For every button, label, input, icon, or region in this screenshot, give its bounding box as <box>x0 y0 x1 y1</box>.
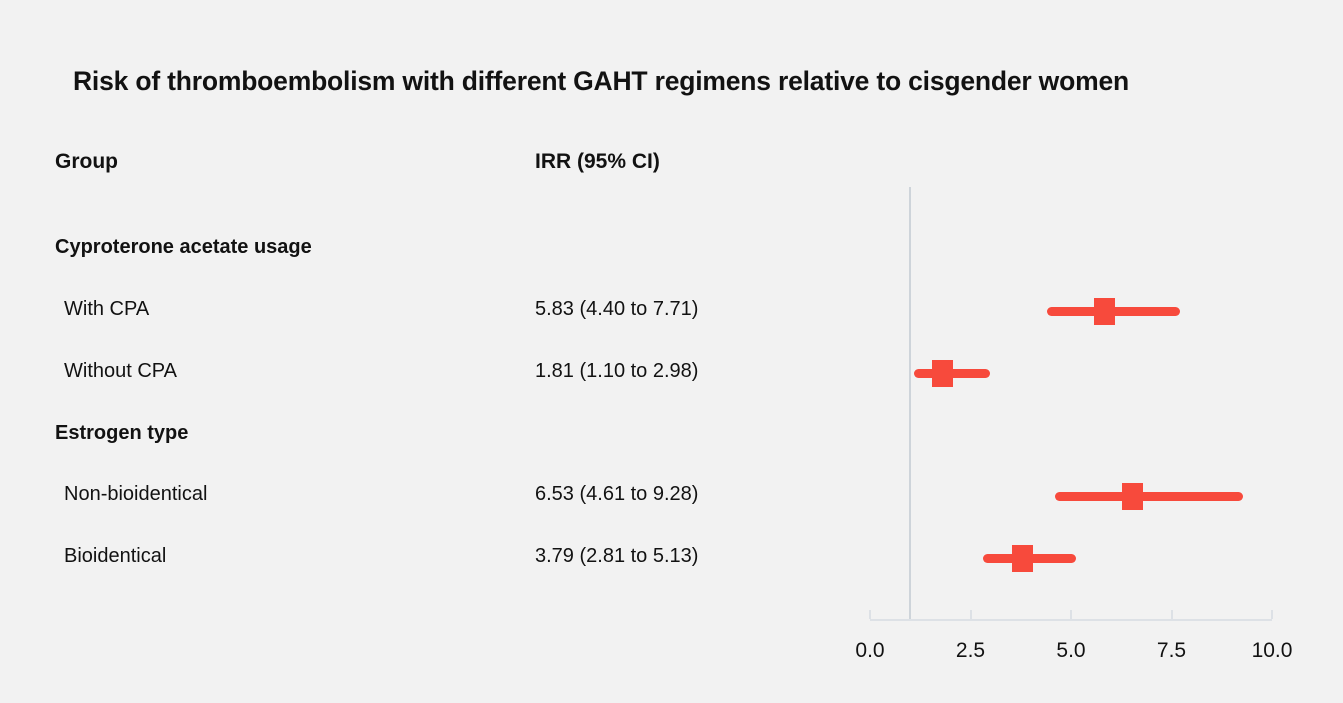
point-estimate-marker <box>1122 483 1143 510</box>
row-estimate-value: 3.79 (2.81 to 5.13) <box>535 545 698 568</box>
chart-title-strong: Risk of thromboembolism with different G… <box>73 66 771 96</box>
x-axis-tick-label: 2.5 <box>956 639 985 663</box>
row-label: Bioidentical <box>64 545 166 568</box>
column-header-value: IRR (95% CI) <box>535 150 660 174</box>
confidence-interval-bar <box>983 554 1076 563</box>
confidence-interval-bar <box>1055 492 1243 501</box>
point-estimate-marker <box>1012 545 1033 572</box>
row-label: Without CPA <box>64 360 177 383</box>
x-axis-tick <box>1070 610 1072 619</box>
reference-line <box>909 187 911 619</box>
point-estimate-marker <box>932 360 953 387</box>
x-axis-line <box>870 619 1272 621</box>
row-label: With CPA <box>64 298 149 321</box>
x-axis-tick-label: 10.0 <box>1252 639 1293 663</box>
forest-plot-figure: Risk of thromboembolism with different G… <box>0 0 1343 703</box>
group-header: Estrogen type <box>55 422 188 445</box>
point-estimate-marker <box>1094 298 1115 325</box>
row-estimate-value: 1.81 (1.10 to 2.98) <box>535 360 698 383</box>
chart-title-light: relative to cisgender women <box>771 66 1129 96</box>
chart-title: Risk of thromboembolism with different G… <box>73 66 1129 97</box>
row-label: Non-bioidentical <box>64 483 207 506</box>
confidence-interval-bar <box>914 369 990 378</box>
x-axis-tick-label: 0.0 <box>855 639 884 663</box>
row-estimate-value: 6.53 (4.61 to 9.28) <box>535 483 698 506</box>
x-axis-tick <box>1171 610 1173 619</box>
x-axis-tick <box>970 610 972 619</box>
column-header-group: Group <box>55 150 118 174</box>
x-axis-tick-label: 5.0 <box>1056 639 1085 663</box>
x-axis-tick <box>869 610 871 619</box>
forest-plot-panel: 0.02.55.07.510.0 <box>0 0 1343 703</box>
row-estimate-value: 5.83 (4.40 to 7.71) <box>535 298 698 321</box>
x-axis-tick-label: 7.5 <box>1157 639 1186 663</box>
group-header: Cyproterone acetate usage <box>55 236 312 259</box>
confidence-interval-bar <box>1047 307 1180 316</box>
x-axis-tick <box>1271 610 1273 619</box>
